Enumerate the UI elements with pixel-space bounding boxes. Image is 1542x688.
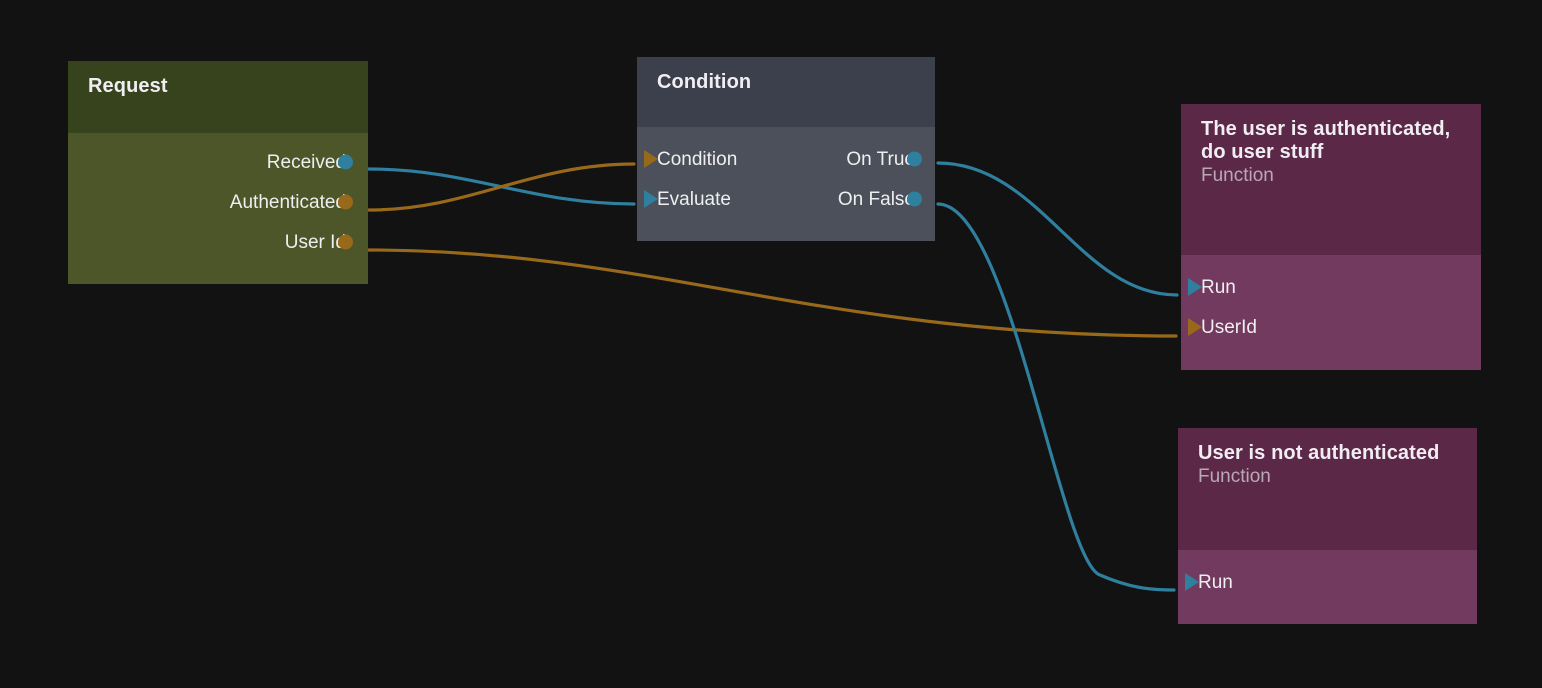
node-condition-title: Condition [657, 71, 915, 94]
input-port-arrow-condition[interactable] [644, 150, 658, 168]
output-row-authenticated[interactable]: Authenticated [90, 182, 346, 222]
output-label-authenticated: Authenticated [230, 193, 346, 212]
input-label-evaluate: Evaluate [657, 190, 731, 209]
node-function-authenticated-body: Run UserId [1181, 255, 1481, 370]
edge-userid-to-userid [369, 250, 1176, 336]
node-function-authenticated-title: The user is authenticated, do user stuff [1201, 118, 1461, 164]
node-request-body: Received Authenticated User Id [68, 133, 368, 284]
edge-path [369, 169, 634, 204]
edge-path [369, 250, 1176, 336]
edge-ontrue-to-run [938, 163, 1177, 295]
edge-path [369, 164, 634, 210]
output-row-user-id[interactable]: User Id [90, 222, 346, 262]
input-label-condition: Condition [657, 150, 737, 169]
output-row-received[interactable]: Received [90, 142, 346, 182]
node-graph-canvas[interactable]: Request Received Authenticated User Id C… [0, 0, 1542, 688]
output-port-dot-received[interactable] [338, 155, 353, 170]
input-label-run-unauthenticated: Run [1198, 573, 1233, 592]
output-label-received: Received [267, 153, 346, 172]
input-port-arrow-evaluate[interactable] [644, 190, 658, 208]
input-port-arrow-run-authenticated[interactable] [1188, 278, 1202, 296]
io-row-evaluate-onfalse[interactable]: Evaluate On False [657, 179, 915, 219]
node-function-authenticated-header[interactable]: The user is authenticated, do user stuff… [1181, 104, 1481, 255]
input-label-run-authenticated: Run [1201, 278, 1236, 297]
input-row-run-unauthenticated[interactable]: Run [1198, 562, 1457, 602]
node-function-unauthenticated[interactable]: User is not authenticated Function Run [1178, 428, 1477, 624]
node-function-authenticated[interactable]: The user is authenticated, do user stuff… [1181, 104, 1481, 370]
node-condition[interactable]: Condition Condition On True Evaluate On … [637, 57, 935, 241]
output-label-on-true: On True [846, 150, 915, 169]
input-row-run-authenticated[interactable]: Run [1201, 267, 1461, 307]
node-request[interactable]: Request Received Authenticated User Id [68, 61, 368, 284]
edge-onfalse-to-run [938, 204, 1174, 590]
edge-authenticated-to-condition [369, 164, 634, 210]
node-function-unauthenticated-subtitle: Function [1198, 466, 1457, 489]
input-label-userid: UserId [1201, 318, 1257, 337]
node-function-authenticated-subtitle: Function [1201, 165, 1461, 188]
node-request-title: Request [88, 75, 348, 98]
node-function-unauthenticated-title: User is not authenticated [1198, 442, 1457, 465]
output-port-dot-authenticated[interactable] [338, 195, 353, 210]
input-port-arrow-run-unauthenticated[interactable] [1185, 573, 1199, 591]
node-function-unauthenticated-body: Run [1178, 550, 1477, 624]
node-condition-body: Condition On True Evaluate On False [637, 127, 935, 241]
output-port-dot-user-id[interactable] [338, 235, 353, 250]
node-request-header[interactable]: Request [68, 61, 368, 133]
io-row-condition-ontrue[interactable]: Condition On True [657, 139, 915, 179]
node-function-unauthenticated-header[interactable]: User is not authenticated Function [1178, 428, 1477, 550]
output-port-dot-on-true[interactable] [907, 152, 922, 167]
output-label-on-false: On False [838, 190, 915, 209]
output-label-user-id: User Id [285, 233, 346, 252]
input-port-arrow-userid[interactable] [1188, 318, 1202, 336]
edge-received-to-evaluate [369, 169, 634, 204]
output-port-dot-on-false[interactable] [907, 192, 922, 207]
edge-path [938, 204, 1174, 590]
node-condition-header[interactable]: Condition [637, 57, 935, 127]
edge-path [938, 163, 1177, 295]
input-row-userid[interactable]: UserId [1201, 307, 1461, 347]
